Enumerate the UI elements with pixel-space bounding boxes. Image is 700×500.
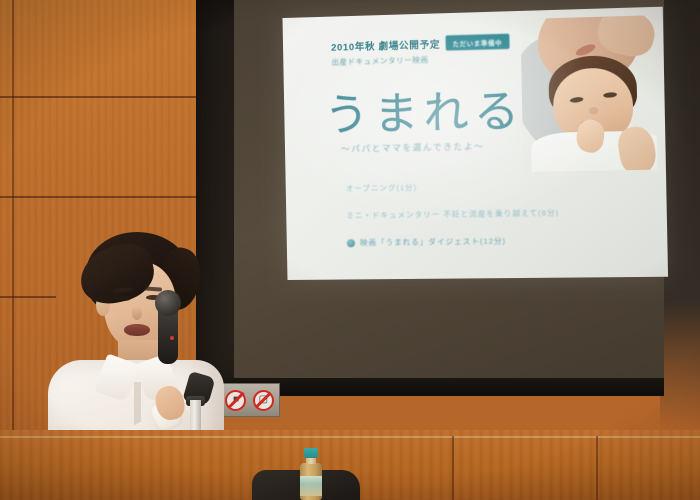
presenter-mouth <box>124 324 150 336</box>
wall-seam <box>0 96 200 98</box>
projected-slide: 2010年秋 劇場公開予定 ただいま準備中 出産ドキュメンタリー映画 うまれる … <box>282 7 668 280</box>
microphone-indicator <box>170 336 174 340</box>
microphone-head <box>155 290 181 316</box>
bullet-icon <box>347 239 355 247</box>
genre-text: 出産ドキュメンタリー映画 <box>331 52 515 68</box>
agenda-item-label: オープニング(1分) <box>346 182 417 194</box>
agenda-item-label: 映画「うまれる」ダイジェスト(12分) <box>360 235 506 248</box>
agenda-list: オープニング(1分) ミニ・ドキュメンタリー 不妊と流産を乗り越えて(8分) 映… <box>346 178 636 264</box>
wall-seam-vertical <box>596 436 598 500</box>
presenter-nose <box>132 306 142 320</box>
release-text: 2010年秋 劇場公開予定 <box>331 36 440 53</box>
release-line: 2010年秋 劇場公開予定 ただいま準備中 <box>331 34 515 54</box>
agenda-item: オープニング(1分) <box>346 178 635 194</box>
wall-seam-vertical <box>452 436 454 500</box>
bottle-cap <box>304 448 318 458</box>
wall-seam <box>0 196 200 198</box>
slide-header: 2010年秋 劇場公開予定 ただいま準備中 出産ドキュメンタリー映画 <box>331 34 515 68</box>
lecture-hall-photo: 2010年秋 劇場公開予定 ただいま準備中 出産ドキュメンタリー映画 うまれる … <box>0 0 700 500</box>
agenda-item-label: ミニ・ドキュメンタリー 不妊と流産を乗り越えて(8分) <box>346 207 559 221</box>
slide-title: うまれる <box>324 74 525 143</box>
wall-seam-vertical <box>12 0 14 430</box>
wall-trim <box>0 436 700 438</box>
presenter-eye-left <box>116 296 131 301</box>
agenda-item: 映画「うまれる」ダイジェスト(12分) <box>347 234 636 249</box>
plastic-tea-bottle <box>300 448 322 500</box>
slide-tagline: 〜パパとママを選んできたよ〜 <box>341 140 485 155</box>
agenda-item: ミニ・ドキュメンタリー 不妊と流産を乗り越えて(8分) <box>346 206 635 221</box>
status-badge: ただいま準備中 <box>445 34 509 51</box>
no-drinks-icon: ▢ <box>253 390 274 411</box>
mother-and-baby-photo <box>520 15 657 172</box>
bottle-label <box>300 476 322 496</box>
bottle-neck <box>306 457 316 464</box>
